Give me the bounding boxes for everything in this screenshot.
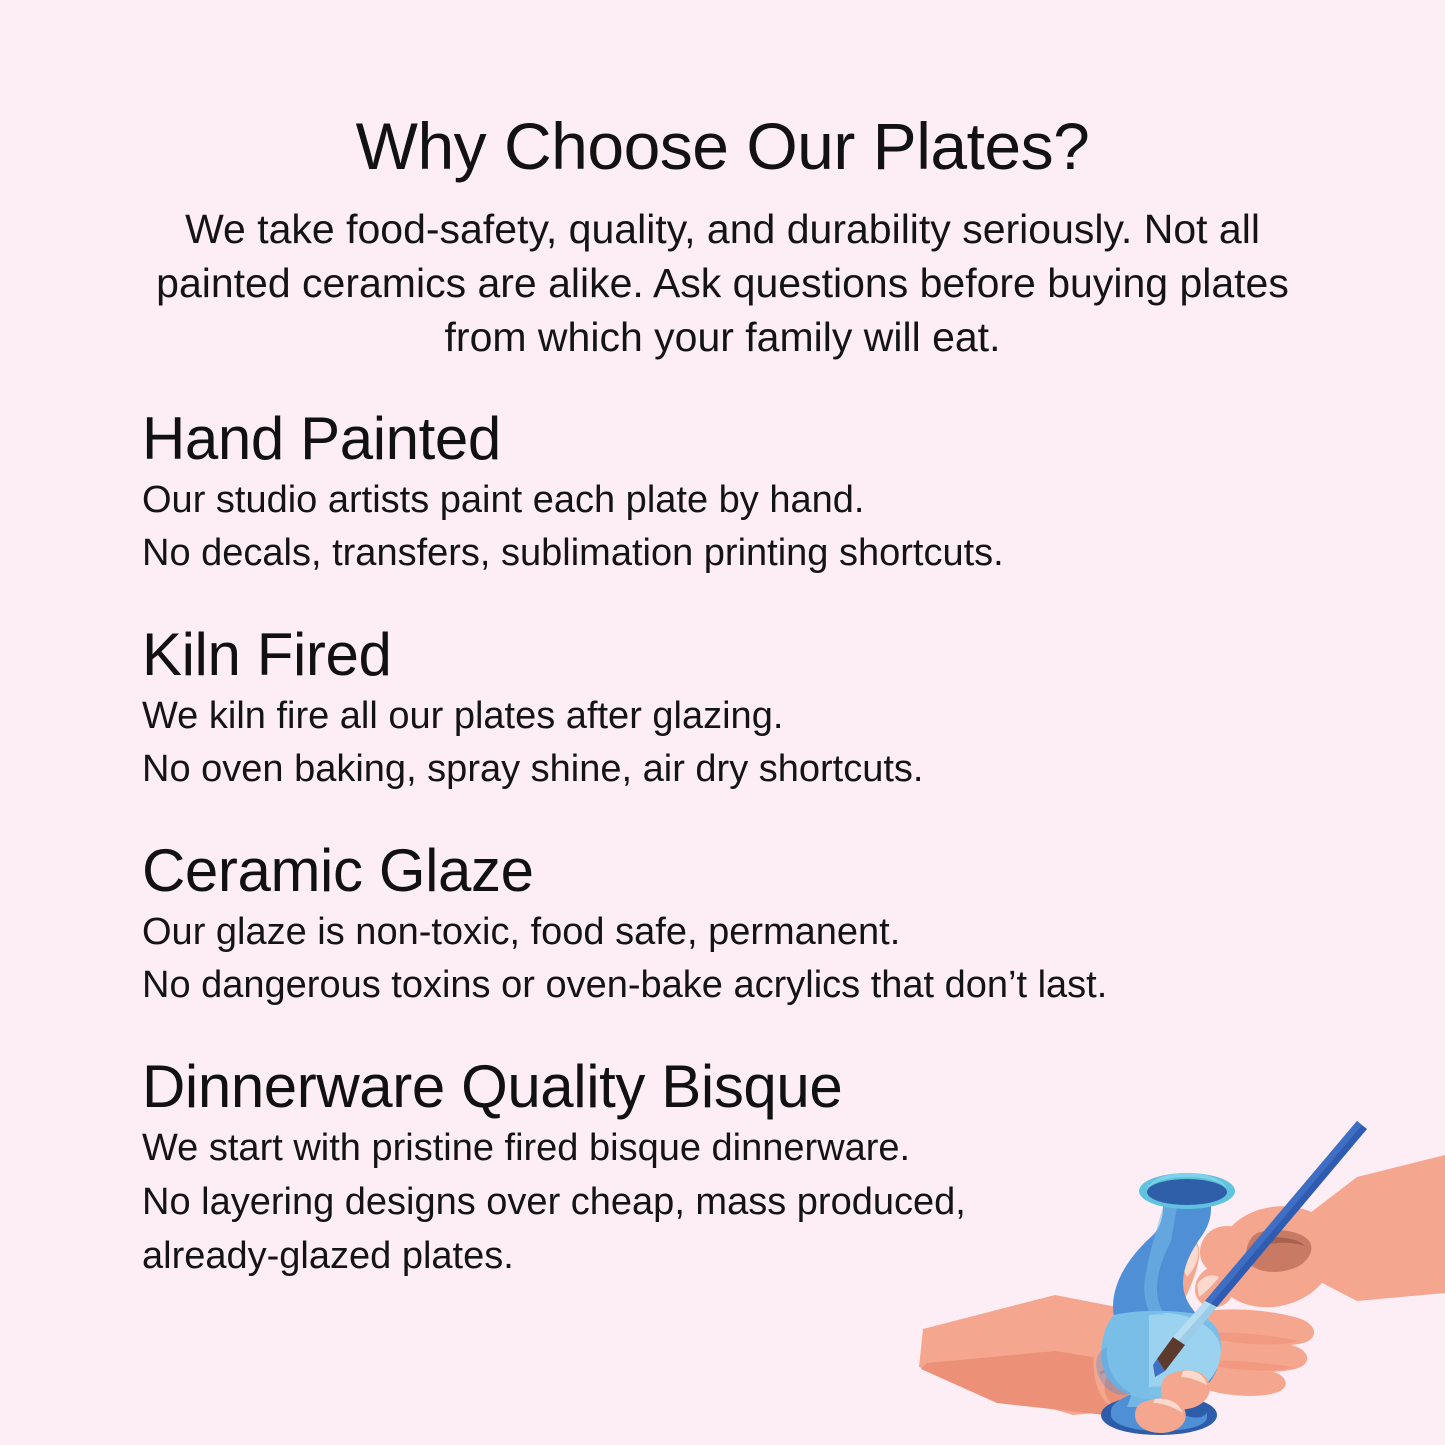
feature-line: Our glaze is non-toxic, food safe, perma… — [142, 906, 1302, 958]
feature-line: No dangerous toxins or oven-bake acrylic… — [142, 959, 1302, 1011]
feature-body: Our glaze is non-toxic, food safe, perma… — [142, 906, 1302, 1011]
feature-line: already-glazed plates. — [142, 1230, 1302, 1284]
feature-line: No oven baking, spray shine, air dry sho… — [142, 743, 1302, 795]
page-subtitle: We take food-safety, quality, and durabi… — [153, 182, 1293, 364]
feature-line: Our studio artists paint each plate by h… — [142, 474, 1302, 526]
feature-line: No decals, transfers, sublimation printi… — [142, 527, 1302, 579]
left-hand-front-fingers-graphic — [1135, 1370, 1210, 1433]
header: Why Choose Our Plates? We take food-safe… — [0, 0, 1445, 364]
feature-line: We start with pristine fired bisque dinn… — [142, 1122, 1302, 1176]
feature-body: We kiln fire all our plates after glazin… — [142, 690, 1302, 795]
feature-list: Hand Painted Our studio artists paint ea… — [142, 405, 1302, 1284]
feature-title: Hand Painted — [142, 405, 1302, 472]
feature-kiln-fired: Kiln Fired We kiln fire all our plates a… — [142, 621, 1302, 795]
feature-body: Our studio artists paint each plate by h… — [142, 474, 1302, 579]
feature-dinnerware-quality-bisque: Dinnerware Quality Bisque We start with … — [142, 1053, 1302, 1284]
feature-body: We start with pristine fired bisque dinn… — [142, 1122, 1302, 1284]
feature-title: Kiln Fired — [142, 621, 1302, 688]
feature-ceramic-glaze: Ceramic Glaze Our glaze is non-toxic, fo… — [142, 837, 1302, 1011]
poster-canvas: Why Choose Our Plates? We take food-safe… — [0, 0, 1445, 1445]
feature-title: Dinnerware Quality Bisque — [142, 1053, 1302, 1120]
feature-line: No layering designs over cheap, mass pro… — [142, 1176, 1302, 1230]
feature-line: We kiln fire all our plates after glazin… — [142, 690, 1302, 742]
feature-title: Ceramic Glaze — [142, 837, 1302, 904]
feature-hand-painted: Hand Painted Our studio artists paint ea… — [142, 405, 1302, 579]
page-title: Why Choose Our Plates? — [0, 0, 1445, 182]
